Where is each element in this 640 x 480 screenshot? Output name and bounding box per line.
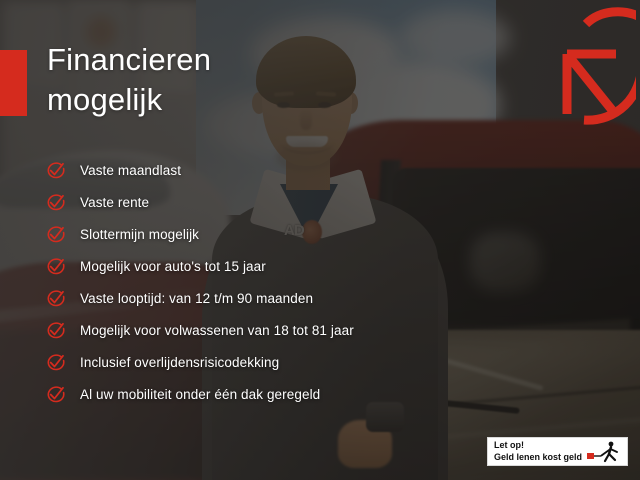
list-item: Inclusief overlijdensrisicodekking	[46, 346, 466, 378]
circular-arrow-icon	[554, 2, 636, 126]
status-badge: Let op! Geld lenen kost geld	[487, 437, 628, 466]
walking-person-pulling-weight-icon	[587, 441, 621, 463]
list-item: Mogelijk voor volwassenen van 18 tot 81 …	[46, 314, 466, 346]
page-title: Financieren mogelijk	[47, 40, 347, 121]
red-accent-block	[0, 50, 27, 116]
promo-banner: AD Financieren mogelijk Vaste maandlast	[0, 0, 640, 480]
list-item: Al uw mobiliteit onder één dak geregeld	[46, 378, 466, 410]
list-item-label: Mogelijk voor volwassenen van 18 tot 81 …	[80, 323, 354, 338]
check-circle-icon	[46, 320, 66, 340]
check-circle-icon	[46, 384, 66, 404]
check-circle-icon	[46, 160, 66, 180]
headline-line-1: Financieren	[47, 42, 211, 77]
list-item: Vaste maandlast	[46, 154, 466, 186]
check-circle-icon	[46, 192, 66, 212]
list-item-label: Al uw mobiliteit onder één dak geregeld	[80, 387, 320, 402]
warning-text: Let op! Geld lenen kost geld	[494, 440, 582, 464]
check-circle-icon	[46, 256, 66, 276]
list-item-label: Vaste looptijd: van 12 t/m 90 maanden	[80, 291, 313, 306]
check-circle-icon	[46, 224, 66, 244]
list-item-label: Vaste rente	[80, 195, 149, 210]
list-item-label: Mogelijk voor auto's tot 15 jaar	[80, 259, 266, 274]
check-circle-icon	[46, 288, 66, 308]
feature-list: Vaste maandlast Vaste rente	[46, 154, 466, 410]
banner-content: Financieren mogelijk Vaste maandlast	[0, 0, 640, 480]
list-item: Vaste looptijd: van 12 t/m 90 maanden	[46, 282, 466, 314]
warning-line-2: Geld lenen kost geld	[494, 452, 582, 464]
warning-line-1: Let op!	[494, 440, 582, 452]
check-circle-icon	[46, 352, 66, 372]
list-item-label: Slottermijn mogelijk	[80, 227, 199, 242]
list-item: Slottermijn mogelijk	[46, 218, 466, 250]
list-item: Vaste rente	[46, 186, 466, 218]
headline-line-2: mogelijk	[47, 80, 347, 120]
list-item-label: Inclusief overlijdensrisicodekking	[80, 355, 279, 370]
list-item-label: Vaste maandlast	[80, 163, 181, 178]
list-item: Mogelijk voor auto's tot 15 jaar	[46, 250, 466, 282]
